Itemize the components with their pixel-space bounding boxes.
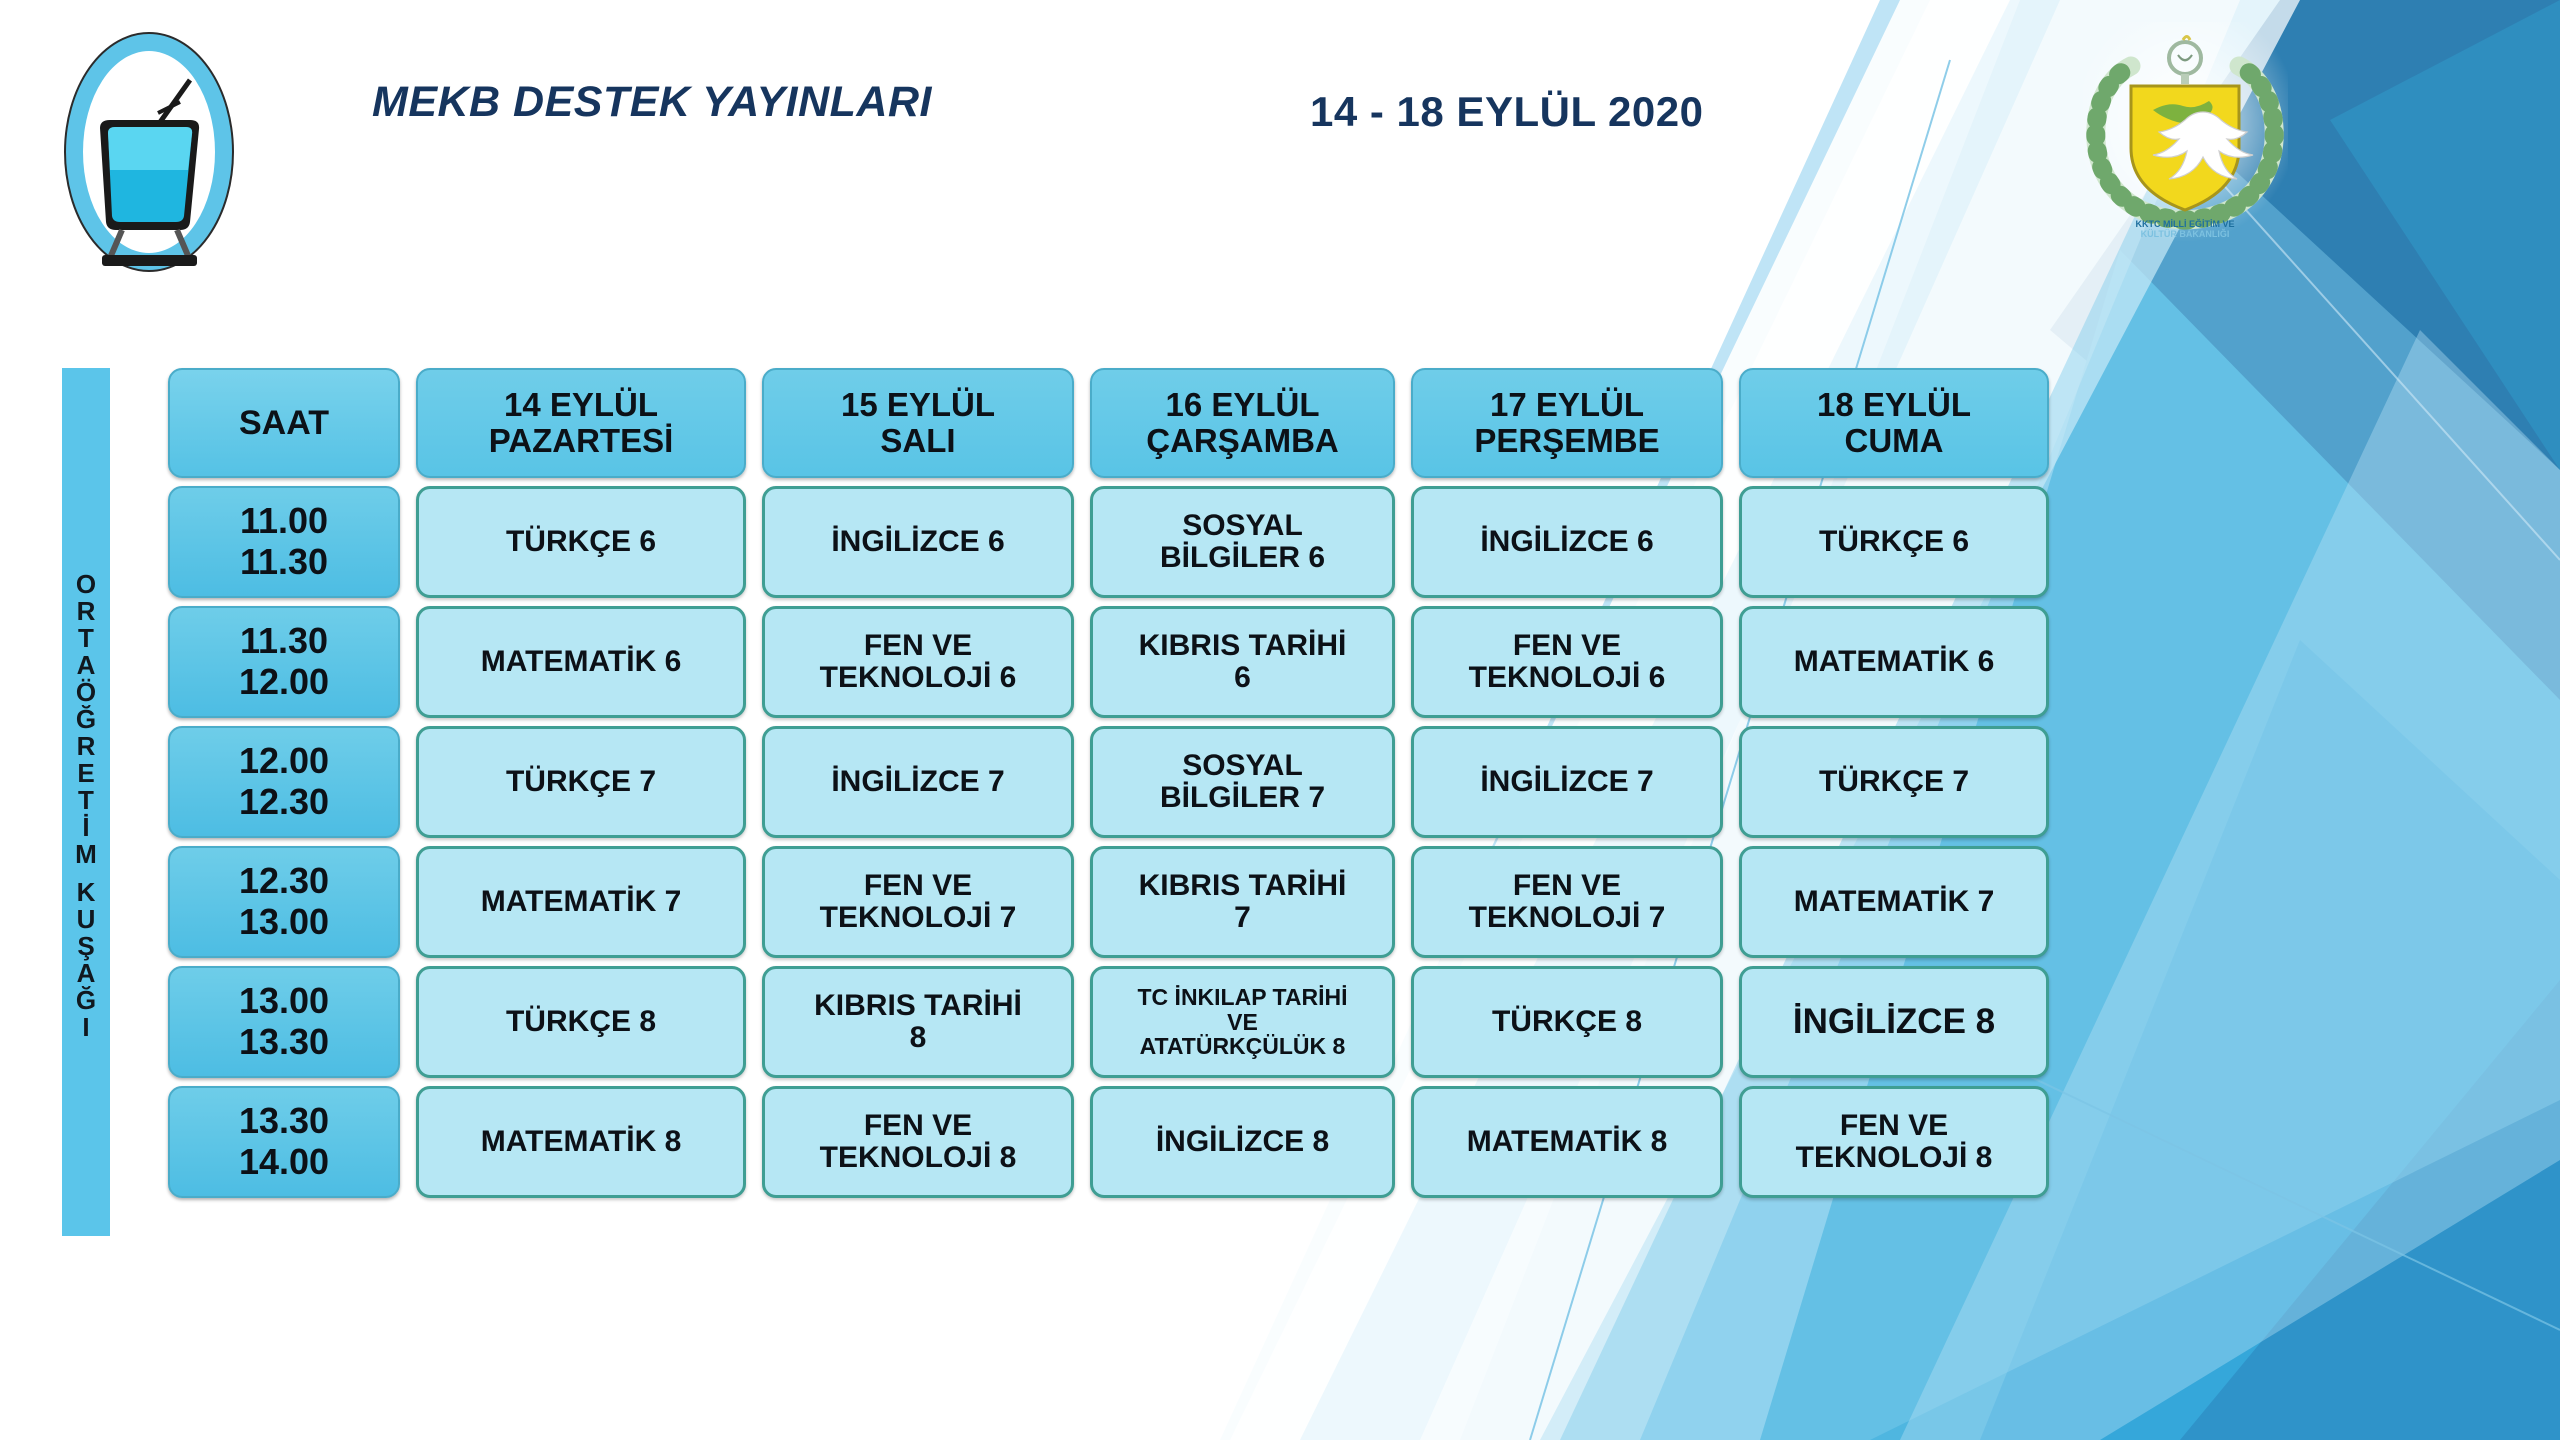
day-header-4: 17 EYLÜLPERŞEMBE: [1411, 368, 1723, 478]
band-letter: R: [77, 733, 96, 759]
day-header-3: 16 EYLÜLÇARŞAMBA: [1090, 368, 1395, 478]
lesson-cell: İNGİLİZCE 7: [762, 726, 1074, 838]
band-letter: E: [77, 760, 94, 786]
day-header-1: 14 EYLÜLPAZARTESİ: [416, 368, 746, 478]
day-header-name: PERŞEMBE: [1474, 423, 1659, 459]
lesson-label: FEN VE TEKNOLOJİ 6: [1469, 630, 1666, 695]
lesson-cell: FEN VE TEKNOLOJİ 6: [762, 606, 1074, 718]
time-start: 11.00: [240, 502, 328, 541]
band-letter: T: [78, 625, 94, 651]
lesson-label: MATEMATİK 8: [1467, 1126, 1668, 1158]
lesson-cell: FEN VE TEKNOLOJİ 8: [1739, 1086, 2049, 1198]
day-header-date: 16 EYLÜL: [1165, 387, 1319, 423]
lesson-cell: MATEMATİK 6: [1739, 606, 2049, 718]
day-header-name: ÇARŞAMBA: [1146, 423, 1339, 459]
mekb-tv-logo-svg: [62, 30, 237, 275]
lesson-cell: MATEMATİK 8: [1411, 1086, 1723, 1198]
lesson-cell: İNGİLİZCE 8: [1739, 966, 2049, 1078]
lesson-cell: MATEMATİK 6: [416, 606, 746, 718]
lesson-label: MATEMATİK 6: [1794, 646, 1995, 678]
lesson-label: KIBRIS TARİHİ 7: [1139, 870, 1347, 935]
lesson-cell: FEN VE TEKNOLOJİ 7: [762, 846, 1074, 958]
lesson-label: İNGİLİZCE 6: [831, 526, 1004, 558]
lesson-label: İNGİLİZCE 7: [1480, 766, 1653, 798]
lesson-cell: İNGİLİZCE 6: [762, 486, 1074, 598]
day-header-date: 18 EYLÜL: [1817, 387, 1971, 423]
lesson-cell: FEN VE TEKNOLOJİ 6: [1411, 606, 1723, 718]
lesson-cell: İNGİLİZCE 7: [1411, 726, 1723, 838]
lesson-cell: TÜRKÇE 8: [416, 966, 746, 1078]
lesson-cell: KIBRIS TARİHİ 8: [762, 966, 1074, 1078]
lesson-cell: TÜRKÇE 6: [1739, 486, 2049, 598]
lesson-label: FEN VE TEKNOLOJİ 7: [820, 870, 1017, 935]
ministry-caption-line1: KKTC MİLLİ EĞİTİM VE: [2136, 218, 2235, 229]
time-end: 12.30: [239, 783, 329, 822]
day-header-date: 15 EYLÜL: [841, 387, 995, 423]
lesson-cell: SOSYAL BİLGİLER 7: [1090, 726, 1395, 838]
slide-root: MEKB DESTEK YAYINLARI 14 - 18 EYLÜL 2020: [0, 0, 2560, 1440]
time-end: 13.30: [239, 1023, 329, 1062]
lesson-cell: İNGİLİZCE 8: [1090, 1086, 1395, 1198]
lesson-label: TÜRKÇE 7: [1819, 766, 1969, 798]
day-header-2: 15 EYLÜLSALI: [762, 368, 1074, 478]
lesson-cell: MATEMATİK 7: [1739, 846, 2049, 958]
time-end: 13.00: [239, 903, 329, 942]
lesson-label: SOSYAL BİLGİLER 6: [1160, 510, 1325, 575]
day-header-name: CUMA: [1845, 423, 1944, 459]
time-start: 13.00: [239, 982, 329, 1021]
lesson-label: İNGİLİZCE 6: [1480, 526, 1653, 558]
lesson-label: TÜRKÇE 8: [506, 1006, 656, 1038]
time-slot-cell: 11.3012.00: [168, 606, 400, 718]
time-slot-cell: 12.3013.00: [168, 846, 400, 958]
lesson-cell: TÜRKÇE 8: [1411, 966, 1723, 1078]
band-letter: T: [78, 787, 94, 813]
schedule-grid: SAAT14 EYLÜLPAZARTESİ15 EYLÜLSALI16 EYLÜ…: [168, 368, 2049, 1198]
band-letter: O: [76, 571, 96, 597]
ministry-caption-line2: KÜLTÜR BAKANLIĞI: [2141, 228, 2230, 239]
time-slot-cell: 11.0011.30: [168, 486, 400, 598]
mekb-tv-logo: [62, 30, 237, 275]
lesson-cell: TÜRKÇE 6: [416, 486, 746, 598]
kktc-ministry-logo-svg: KKTC MİLLİ EĞİTİM VE KÜLTÜR BAKANLIĞI: [2083, 22, 2288, 242]
lesson-cell: TC İNKILAP TARİHİ VE ATATÜRKÇÜLÜK 8: [1090, 966, 1395, 1078]
band-letter: Ğ: [76, 987, 96, 1013]
lesson-cell: MATEMATİK 7: [416, 846, 746, 958]
time-end: 11.30: [240, 543, 328, 582]
lesson-label: MATEMATİK 8: [481, 1126, 682, 1158]
day-header-name: PAZARTESİ: [489, 423, 674, 459]
band-letter: A: [77, 652, 96, 678]
lesson-cell: İNGİLİZCE 6: [1411, 486, 1723, 598]
time-column-header: SAAT: [168, 368, 400, 478]
lesson-cell: TÜRKÇE 7: [1739, 726, 2049, 838]
lesson-cell: SOSYAL BİLGİLER 6: [1090, 486, 1395, 598]
lesson-label: MATEMATİK 6: [481, 646, 682, 678]
lesson-cell: FEN VE TEKNOLOJİ 7: [1411, 846, 1723, 958]
day-header-name: SALI: [880, 423, 955, 459]
lesson-label: TÜRKÇE 6: [506, 526, 656, 558]
band-letter: U: [77, 906, 96, 932]
band-letter: M: [75, 841, 97, 867]
lesson-label: İNGİLİZCE 7: [831, 766, 1004, 798]
band-letter: A: [77, 960, 96, 986]
lesson-label: TÜRKÇE 7: [506, 766, 656, 798]
lesson-cell: FEN VE TEKNOLOJİ 8: [762, 1086, 1074, 1198]
lesson-label: TÜRKÇE 6: [1819, 526, 1969, 558]
kktc-ministry-logo: KKTC MİLLİ EĞİTİM VE KÜLTÜR BAKANLIĞI: [2083, 22, 2288, 242]
band-letter: Ş: [77, 933, 94, 959]
lesson-label: FEN VE TEKNOLOJİ 6: [820, 630, 1017, 695]
day-header-5: 18 EYLÜLCUMA: [1739, 368, 2049, 478]
page-title: MEKB DESTEK YAYINLARI: [372, 78, 932, 127]
lesson-label: FEN VE TEKNOLOJİ 7: [1469, 870, 1666, 935]
time-start: 12.30: [239, 862, 329, 901]
lesson-label: FEN VE TEKNOLOJİ 8: [1796, 1110, 1993, 1175]
lesson-label: SOSYAL BİLGİLER 7: [1160, 750, 1325, 815]
band-letter: R: [77, 598, 96, 624]
time-start: 11.30: [240, 622, 328, 661]
time-slot-cell: 13.3014.00: [168, 1086, 400, 1198]
time-start: 12.00: [239, 742, 329, 781]
lesson-label: TC İNKILAP TARİHİ VE ATATÜRKÇÜLÜK 8: [1138, 985, 1348, 1059]
time-slot-cell: 12.0012.30: [168, 726, 400, 838]
time-slot-cell: 13.0013.30: [168, 966, 400, 1078]
lesson-label: KIBRIS TARİHİ 8: [814, 990, 1022, 1055]
lesson-cell: TÜRKÇE 7: [416, 726, 746, 838]
lesson-label: KIBRIS TARİHİ 6: [1139, 630, 1347, 695]
lesson-label: MATEMATİK 7: [481, 886, 682, 918]
band-letter: K: [77, 879, 96, 905]
band-letter: İ: [82, 814, 89, 840]
time-end: 12.00: [239, 663, 329, 702]
lesson-cell: KIBRIS TARİHİ 6: [1090, 606, 1395, 718]
time-end: 14.00: [239, 1143, 329, 1182]
lesson-cell: MATEMATİK 8: [416, 1086, 746, 1198]
band-letter: Ö: [76, 679, 96, 705]
date-range-label: 14 - 18 EYLÜL 2020: [1310, 88, 1703, 136]
lesson-cell: KIBRIS TARİHİ 7: [1090, 846, 1395, 958]
lesson-label: İNGİLİZCE 8: [1793, 1003, 1995, 1041]
day-header-date: 14 EYLÜL: [504, 387, 658, 423]
band-letter: Ğ: [76, 706, 96, 732]
band-letter: I: [82, 1014, 89, 1040]
day-header-date: 17 EYLÜL: [1490, 387, 1644, 423]
lesson-label: MATEMATİK 7: [1794, 886, 1995, 918]
ortaogretim-kusagi-band: ORTAÖĞRETİMKUŞAĞI: [62, 368, 110, 1236]
lesson-label: İNGİLİZCE 8: [1156, 1126, 1329, 1158]
lesson-label: TÜRKÇE 8: [1492, 1006, 1642, 1038]
lesson-label: FEN VE TEKNOLOJİ 8: [820, 1110, 1017, 1175]
time-start: 13.30: [239, 1102, 329, 1141]
